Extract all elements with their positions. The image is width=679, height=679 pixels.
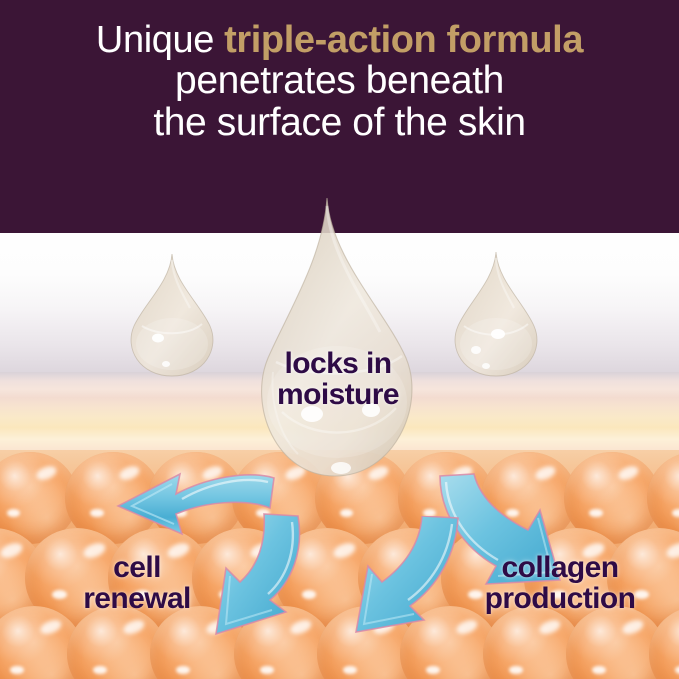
skincare-infographic: Unique triple-action formula penetrates … — [0, 0, 679, 679]
headline-line-1: Unique triple-action formula — [0, 20, 679, 60]
cell-highlight — [34, 463, 58, 482]
label-collagen-line-2: production — [447, 583, 673, 614]
label-locks-line-1: locks in — [246, 348, 430, 379]
headline-line-3: the surface of the skin — [0, 102, 679, 143]
cell-highlight — [621, 618, 646, 638]
cell-highlight — [122, 618, 147, 638]
label-collagen-line-1: collagen — [447, 552, 673, 583]
droplet-center — [246, 196, 428, 480]
label-cell-line-1: cell — [32, 552, 242, 583]
label-locks-line-2: moisture — [246, 379, 430, 410]
cell-highlight — [538, 618, 563, 638]
droplet-right — [446, 250, 546, 378]
headline-accent: triple-action formula — [224, 19, 583, 61]
label-cell-line-2: renewal — [32, 583, 242, 614]
label-cell-renewal: cell renewal — [32, 552, 242, 614]
label-locks-in-moisture: locks in moisture — [246, 348, 430, 410]
page-title: Unique triple-action formula penetrates … — [0, 20, 679, 143]
cell-highlight — [38, 618, 63, 638]
headline-prefix: Unique — [96, 19, 224, 61]
droplet-left — [122, 252, 222, 378]
cell-highlight — [617, 463, 641, 482]
cell-highlight — [0, 540, 25, 561]
label-collagen-production: collagen production — [447, 552, 673, 614]
headline-line-2: penetrates beneath — [0, 60, 679, 101]
